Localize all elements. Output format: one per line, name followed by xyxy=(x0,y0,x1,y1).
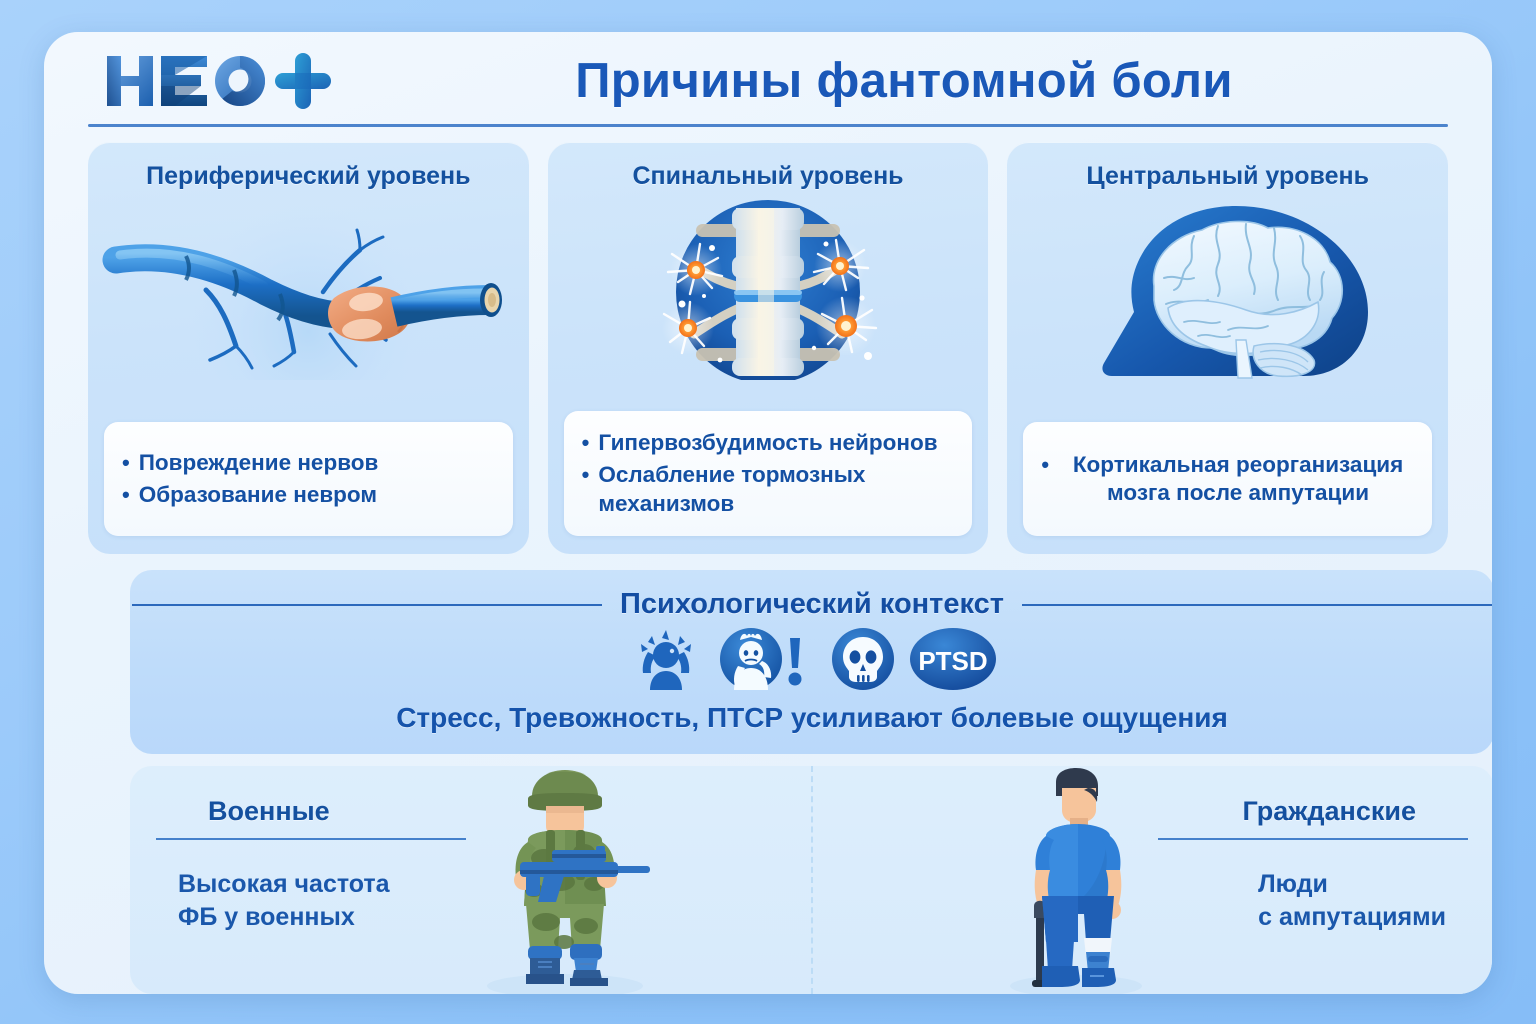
ptsd-badge-icon: PTSD xyxy=(910,628,996,695)
page-title: Причины фантомной боли xyxy=(374,46,1434,116)
stress-person-icon xyxy=(628,628,704,695)
list-item-label: Гипервозбудимость нейронов xyxy=(598,429,937,457)
card-title: Центральный уровень xyxy=(1007,162,1448,191)
list-item: • Повреждение нервов xyxy=(122,449,499,477)
group-text: Люди с ампутациями xyxy=(1258,868,1446,934)
group-text-line-1: Люди xyxy=(1258,868,1446,901)
group-text-line-2: ФБ у военных xyxy=(178,901,390,934)
anxiety-person-exclamation-icon xyxy=(720,628,816,695)
group-title: Военные xyxy=(208,796,330,827)
levels-cards: Периферический уровень xyxy=(88,142,1448,554)
card-bullet-list: • Гипервозбудимость нейронов • Ослаблени… xyxy=(564,411,973,536)
group-military[interactable]: Военные Высокая частота ФБ у военных xyxy=(130,766,811,994)
psych-rule-right xyxy=(1022,604,1492,606)
bullet-icon: • xyxy=(582,429,590,457)
group-title: Гражданские xyxy=(1242,796,1416,827)
card-bullet-list: • Повреждение нервов • Образование невро… xyxy=(104,422,513,536)
list-item: • Гипервозбудимость нейронов xyxy=(582,429,959,457)
skull-icon xyxy=(832,628,894,695)
card-peripheral[interactable]: Периферический уровень xyxy=(88,142,529,554)
infographic-root: Причины фантомной боли Периферический ур… xyxy=(0,0,1536,1024)
list-item: • Образование невром xyxy=(122,481,499,509)
psych-heading: Психологический контекст xyxy=(130,588,1492,621)
list-item-label: Повреждение нервов xyxy=(139,449,379,477)
group-text-line-2: с ампутациями xyxy=(1258,901,1446,934)
psych-rule-left xyxy=(132,604,602,606)
nerve-neuroma-illustration xyxy=(88,200,529,382)
ptsd-label: PTSD xyxy=(918,646,987,676)
population-groups: Военные Высокая частота ФБ у военных xyxy=(130,766,1492,994)
group-text-line-1: Высокая частота xyxy=(178,868,390,901)
group-civilians[interactable]: Гражданские Люди с ампутациями xyxy=(811,766,1492,994)
group-divider xyxy=(1158,838,1468,840)
list-item-label: Ослабление тормозных механизмов xyxy=(598,461,958,518)
list-item-label: Кортикальная реорганизация мозга после а… xyxy=(1058,451,1418,508)
bullet-icon: • xyxy=(582,461,590,489)
group-text: Высокая частота ФБ у военных xyxy=(178,868,390,934)
card-bullet-list: • Кортикальная реорганизация мозга после… xyxy=(1023,422,1432,536)
card-title: Спинальный уровень xyxy=(548,162,989,191)
list-item: • Кортикальная реорганизация мозга после… xyxy=(1041,451,1418,508)
bullet-icon: • xyxy=(122,449,130,477)
bullet-icon: • xyxy=(1041,451,1049,479)
civilian-with-cane-prosthesis-figure xyxy=(984,766,1164,994)
list-item: • Ослабление тормозных механизмов xyxy=(582,461,959,518)
list-item-label: Образование невром xyxy=(139,481,377,509)
header-divider xyxy=(88,124,1448,127)
spine-neurons-illustration xyxy=(548,200,989,382)
main-panel: Причины фантомной боли Периферический ур… xyxy=(44,32,1492,994)
bullet-icon: • xyxy=(122,481,130,509)
card-title: Периферический уровень xyxy=(88,162,529,191)
psych-title: Психологический контекст xyxy=(620,588,1004,621)
soldier-with-prosthesis-figure xyxy=(460,766,670,994)
psych-caption: Стресс, Тревожность, ПТСР усиливают боле… xyxy=(130,702,1492,734)
card-central[interactable]: Центральный уровень xyxy=(1007,142,1448,554)
group-divider xyxy=(156,838,466,840)
psych-icon-row: PTSD xyxy=(130,628,1492,695)
head-brain-illustration xyxy=(1007,200,1448,382)
neo-plus-logo xyxy=(99,50,349,112)
card-spinal[interactable]: Спинальный уровень xyxy=(548,142,989,554)
header: Причины фантомной боли xyxy=(44,32,1492,122)
psychological-context-section: Психологический контекст xyxy=(130,570,1492,754)
